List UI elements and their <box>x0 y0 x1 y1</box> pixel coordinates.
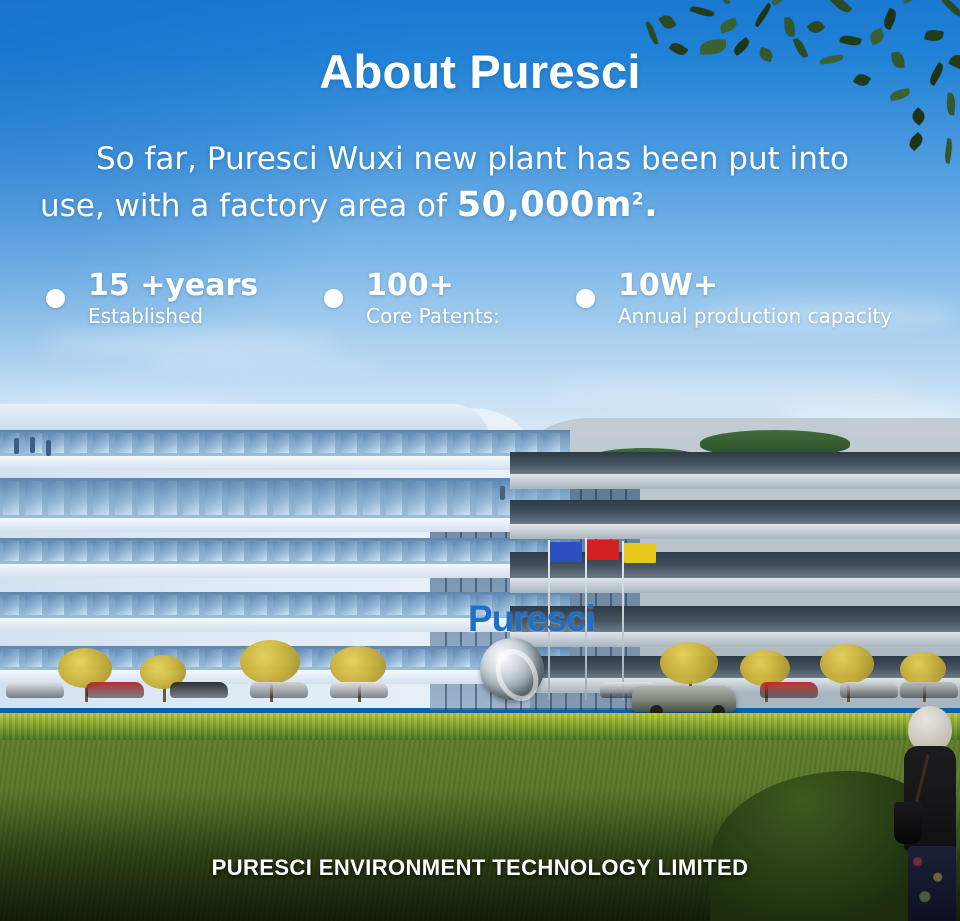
subtitle-line-1: So far, Puresci Wuxi new plant has been … <box>96 141 849 177</box>
stat-value: 100+ <box>366 268 454 303</box>
subtitle-line-2-prefix: use, with a factory area of <box>40 188 457 224</box>
bullet-dot-icon <box>576 289 595 308</box>
stat-label: Established <box>88 304 203 328</box>
company-name-footer: PURESCI ENVIRONMENT TECHNOLOGY LIMITED <box>0 855 960 881</box>
bullet-dot-icon <box>324 289 343 308</box>
factory-area-unit: m <box>595 185 632 225</box>
subtitle-period: . <box>644 185 658 225</box>
stat-value: 10W+ <box>618 268 718 303</box>
subtitle-paragraph: So far, Puresci Wuxi new plant has been … <box>40 138 928 229</box>
text-overlay: About Puresci So far, Puresci Wuxi new p… <box>0 0 960 921</box>
factory-area-exponent: 2 <box>632 189 644 209</box>
stats-row: 15 +years Established 100+ Core Patents:… <box>46 268 936 340</box>
stat-label: Annual production capacity <box>618 304 892 328</box>
factory-area-value: 50,000 <box>457 185 595 225</box>
page-title: About Puresci <box>0 44 960 99</box>
stat-label: Core Patents: <box>366 304 500 328</box>
stat-value: 15 +years <box>88 268 258 303</box>
bullet-dot-icon <box>46 289 65 308</box>
about-puresci-banner: Puresci About Puresci So far, Puresci Wu… <box>0 0 960 921</box>
